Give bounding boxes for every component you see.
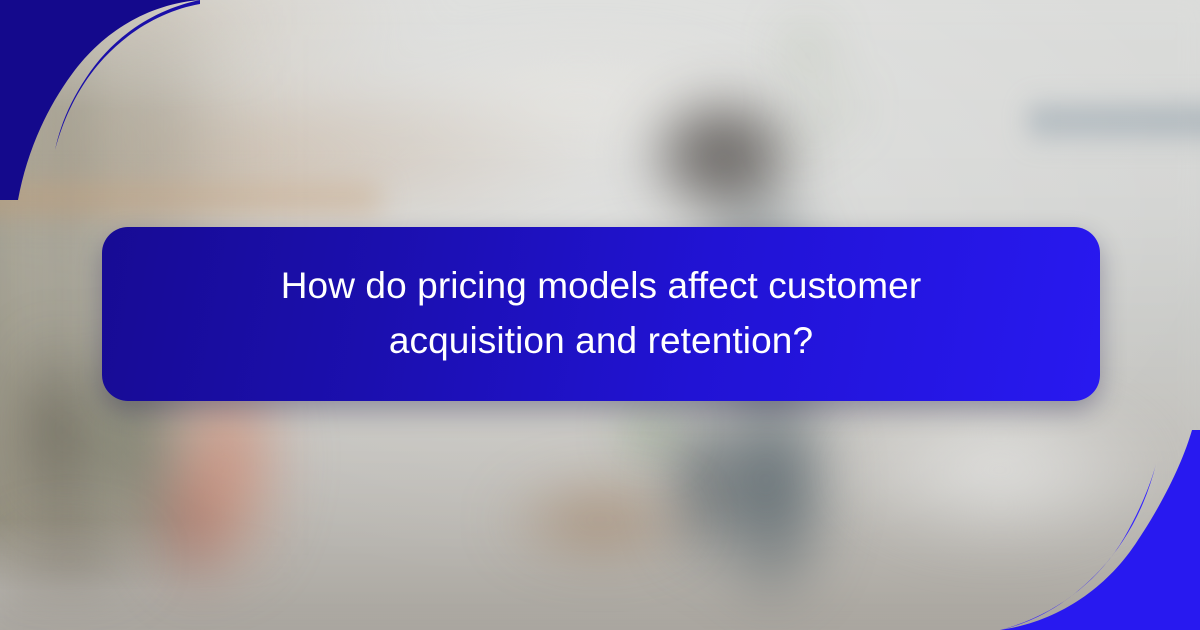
question-text: How do pricing models affect customer ac…: [251, 259, 951, 369]
question-card: How do pricing models affect customer ac…: [102, 227, 1100, 401]
social-card-canvas: How do pricing models affect customer ac…: [0, 0, 1200, 630]
